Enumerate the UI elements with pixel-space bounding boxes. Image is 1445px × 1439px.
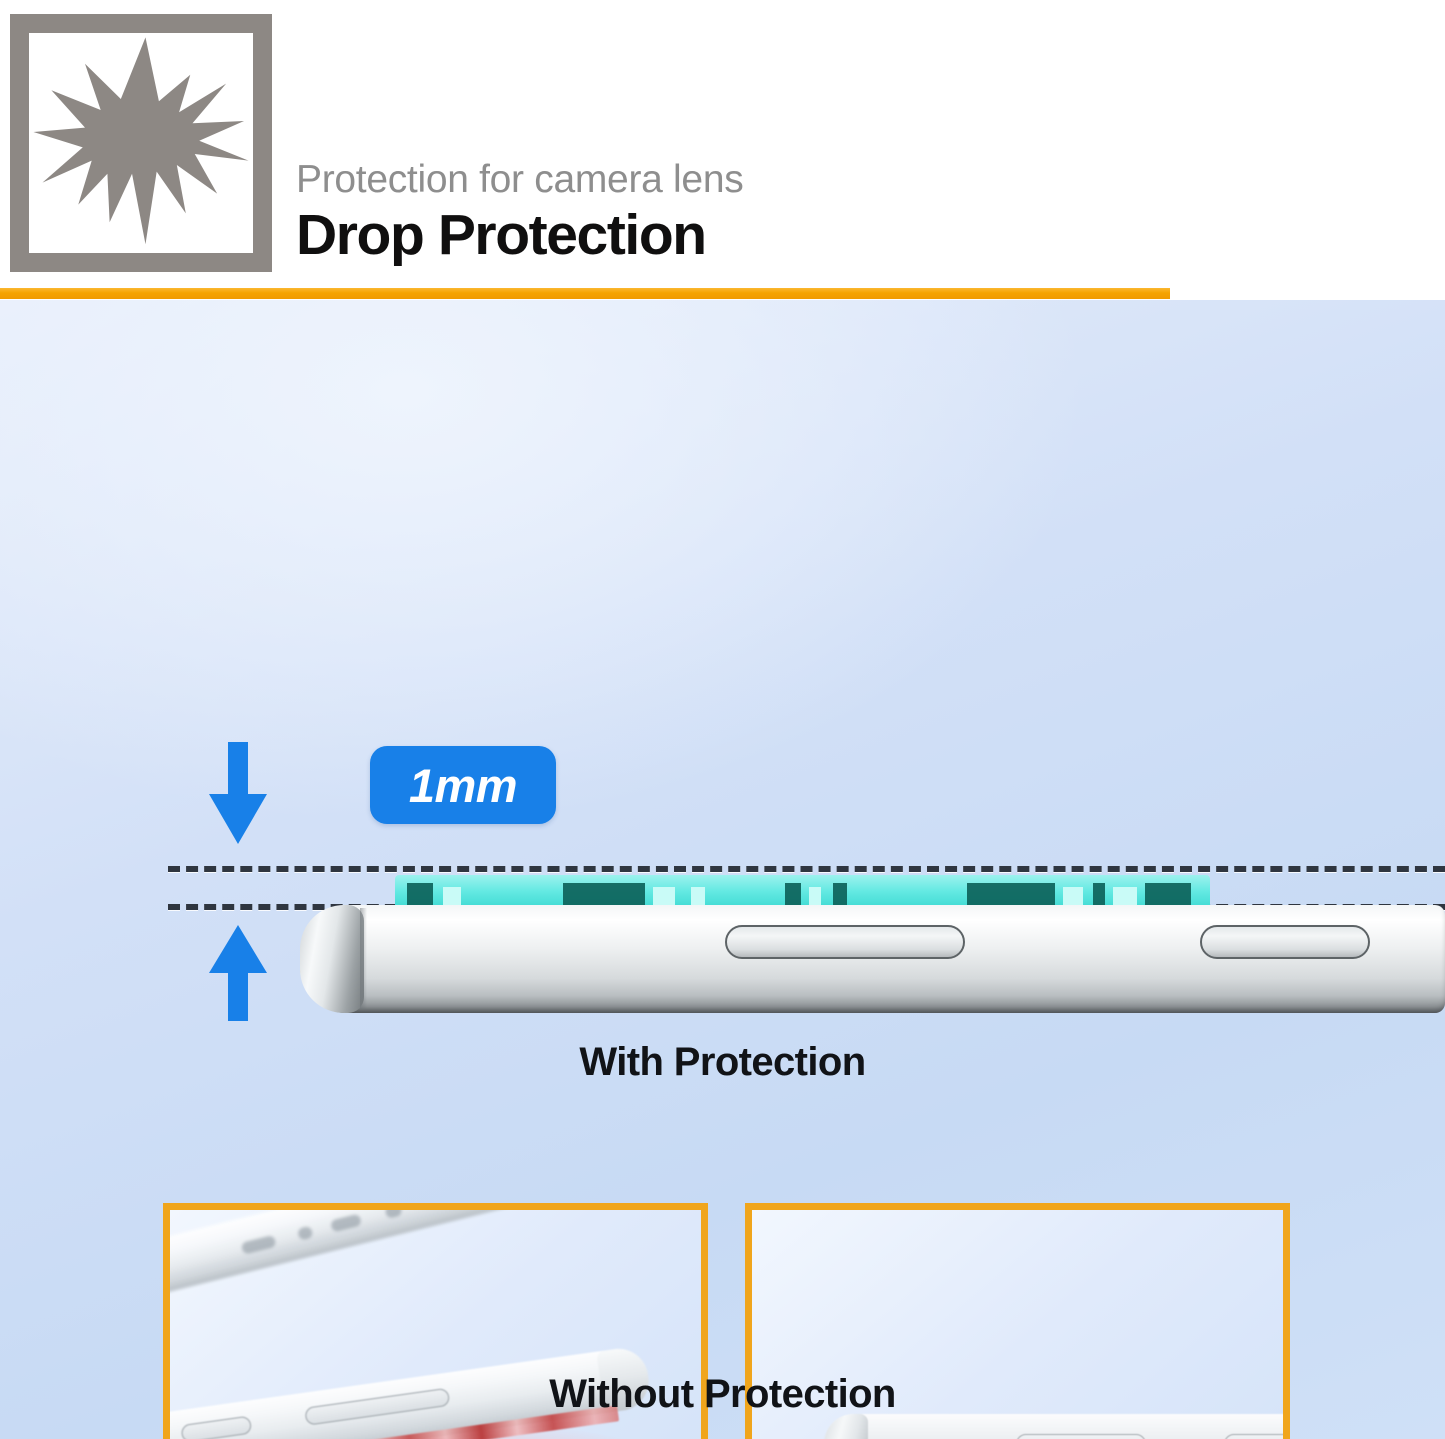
falling-phone-button xyxy=(330,1214,362,1233)
without-protection-label: Without Protection xyxy=(0,1372,1445,1417)
falling-phone-cap xyxy=(506,1203,564,1205)
falling-phone xyxy=(163,1203,563,1301)
header-divider xyxy=(0,288,1170,299)
guide-line-top xyxy=(168,866,1445,872)
falling-phone-button xyxy=(241,1235,277,1255)
falling-phone-button xyxy=(384,1203,402,1219)
phone-body xyxy=(300,905,1445,1013)
phone-volume-button xyxy=(725,925,965,959)
phone-edge-seam xyxy=(360,908,367,1009)
impact-burst-icon xyxy=(10,14,272,272)
with-protection-label: With Protection xyxy=(0,1040,1445,1085)
illustration-stage: 1mm xyxy=(0,300,1445,1439)
page-title: Drop Protection xyxy=(296,207,706,264)
lens-protector-strip xyxy=(395,875,1210,905)
thickness-badge: 1mm xyxy=(370,746,556,824)
unprotected-phone-button xyxy=(1016,1434,1146,1439)
phone-power-button xyxy=(1200,925,1370,959)
drop-protection-infographic: Protection for camera lens Drop Protecti… xyxy=(0,0,1445,1439)
unprotected-phone-cap xyxy=(824,1414,868,1439)
arrow-up-icon xyxy=(205,925,271,1021)
thickness-badge-label: 1mm xyxy=(370,746,556,824)
header-subtitle: Protection for camera lens xyxy=(296,160,743,199)
header-banner: Protection for camera lens Drop Protecti… xyxy=(0,0,1445,300)
impact-burst-glyph xyxy=(29,33,253,253)
falling-phone-button xyxy=(427,1203,451,1208)
arrow-down-icon xyxy=(205,742,271,846)
falling-phone-button xyxy=(297,1226,313,1241)
unprotected-phone-button xyxy=(1224,1434,1290,1439)
unprotected-phone xyxy=(824,1414,1290,1439)
phone-edge-cap xyxy=(300,905,364,1013)
landing-phone-button xyxy=(180,1416,252,1439)
protected-phone-illustration xyxy=(300,875,1445,1015)
